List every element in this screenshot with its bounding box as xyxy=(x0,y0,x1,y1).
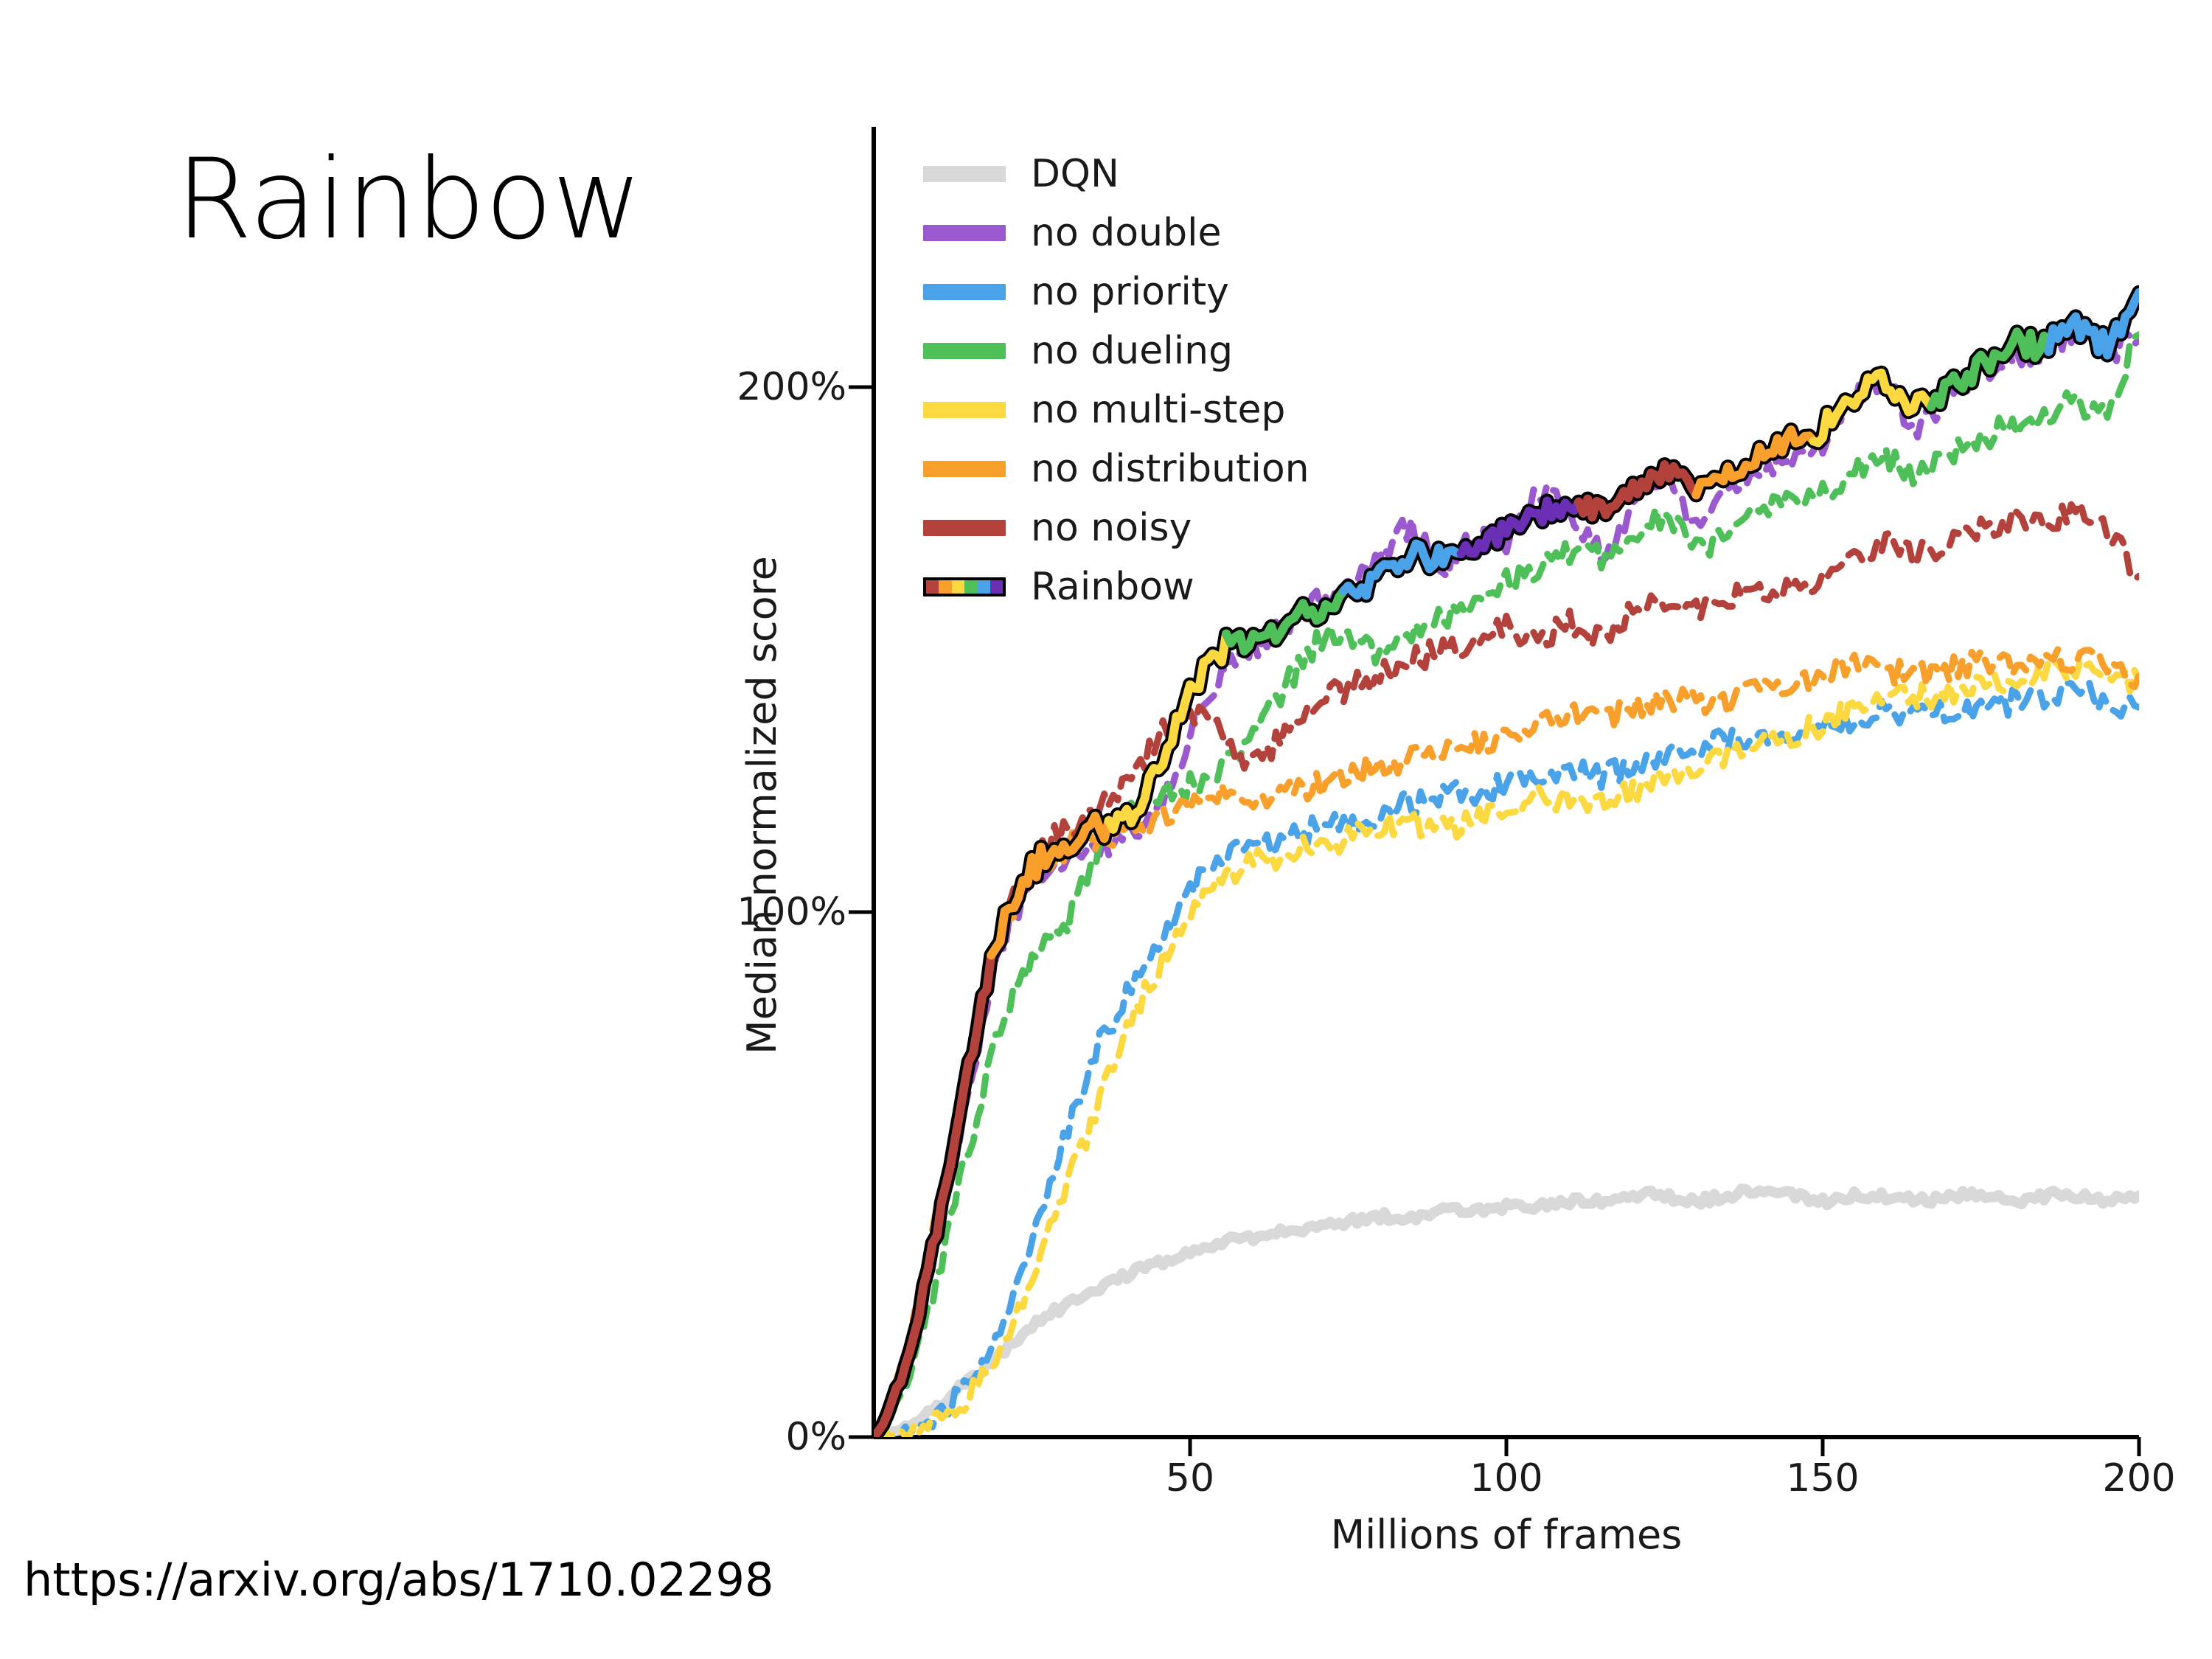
legend-swatch-no-priority xyxy=(923,284,1006,300)
legend-label-no-distribution: no distribution xyxy=(1031,450,1310,488)
legend-label-no-multi-step: no multi-step xyxy=(1031,391,1285,429)
y-tick-label-200: 200% xyxy=(737,365,846,409)
legend-item-no-multi-step[interactable]: no multi-step xyxy=(923,380,1395,439)
legend-item-no-dueling[interactable]: no dueling xyxy=(923,321,1395,380)
legend-label-rainbow: Rainbow xyxy=(1031,568,1194,606)
legend-label-no-double: no double xyxy=(1031,214,1222,252)
x-axis-title: Millions of frames xyxy=(1331,1512,1683,1558)
legend-swatch-no-dueling xyxy=(923,343,1006,359)
x-tick-label-50: 50 xyxy=(1166,1456,1214,1500)
legend-item-no-noisy[interactable]: no noisy xyxy=(923,498,1395,557)
chart-figure: 0% 100% 200% Median normalized score 50 … xyxy=(0,0,2212,1659)
y-tick-label-0: 0% xyxy=(786,1415,847,1459)
legend-label-no-dueling: no dueling xyxy=(1031,332,1233,370)
x-tick-label-200: 200 xyxy=(2102,1456,2175,1500)
legend-swatch-no-noisy xyxy=(923,520,1006,536)
legend-swatch-no-multi-step xyxy=(923,402,1006,418)
legend-label-dqn: DQN xyxy=(1031,155,1119,193)
x-tick-label-100: 100 xyxy=(1470,1456,1543,1500)
x-tick-label-150: 150 xyxy=(1786,1456,1859,1500)
legend-label-no-priority: no priority xyxy=(1031,273,1229,311)
legend-label-no-noisy: no noisy xyxy=(1031,509,1192,547)
legend-swatch-no-distribution xyxy=(923,461,1006,477)
legend-item-rainbow[interactable]: Rainbow xyxy=(923,557,1395,616)
legend-swatch-no-double xyxy=(923,225,1006,241)
legend-item-no-priority[interactable]: no priority xyxy=(923,262,1395,321)
y-axis-title: Median normalized score xyxy=(739,556,785,1054)
legend-item-dqn[interactable]: DQN xyxy=(923,145,1395,204)
legend-swatch-dqn xyxy=(923,166,1006,182)
legend-item-no-distribution[interactable]: no distribution xyxy=(923,439,1395,498)
legend-item-no-double[interactable]: no double xyxy=(923,204,1395,262)
legend-swatch-rainbow xyxy=(923,577,1006,597)
chart-legend: DQN no double no priority no dueling no … xyxy=(923,145,1395,616)
